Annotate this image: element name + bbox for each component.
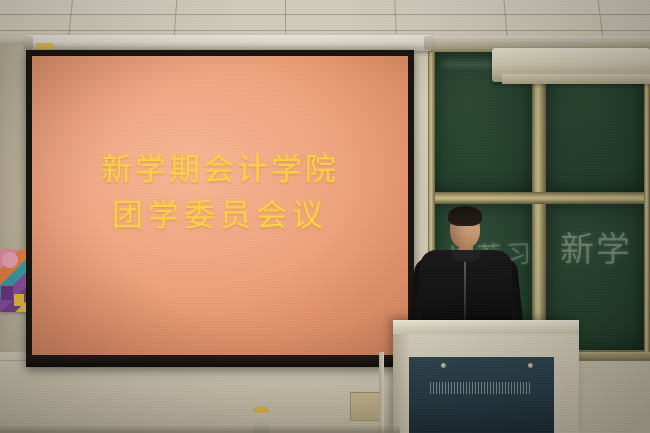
podium-left-side — [393, 334, 409, 433]
ceiling-tile-seam — [285, 0, 286, 34]
wall-corner-edge — [379, 352, 384, 433]
screen-housing-endcap-left — [24, 36, 33, 50]
presenter-collar — [452, 250, 480, 262]
classroom-photo: 推荐习 新学 新学期会计学院 团学委员会议 — [0, 0, 650, 433]
podium-screw-left — [441, 363, 446, 368]
window-blind-edge — [502, 74, 650, 84]
slide-vignette — [32, 56, 408, 355]
podium-screw-right — [528, 363, 533, 368]
screen-housing-extension — [430, 36, 650, 46]
presenter-hair — [448, 206, 482, 226]
presenter-jacket-zipper — [464, 256, 466, 322]
podium-front-panel — [409, 357, 554, 433]
floor-shadow — [0, 425, 400, 433]
poster-shape-yellow — [14, 294, 24, 306]
blackboard-divider-horizontal — [428, 192, 650, 204]
screen-bottom-bar — [26, 355, 414, 367]
podium-top-surface — [393, 320, 579, 334]
ceiling-tile-seam — [0, 14, 650, 15]
poster-shape-circle — [2, 252, 18, 268]
wall-access-panel — [350, 392, 380, 421]
blackboard-edge-right — [644, 46, 650, 356]
projector-screen-housing — [26, 35, 431, 51]
projector-screen: 新学期会计学院 团学委员会议 — [26, 50, 414, 367]
poster-shape-purple — [1, 286, 13, 300]
podium-vent-slots — [430, 382, 530, 394]
screen-housing-label — [36, 43, 53, 49]
screen-housing-endcap-right — [424, 36, 433, 50]
projected-slide: 新学期会计学院 团学委员会议 — [32, 56, 408, 355]
ceiling-tile-seam — [0, 30, 650, 31]
